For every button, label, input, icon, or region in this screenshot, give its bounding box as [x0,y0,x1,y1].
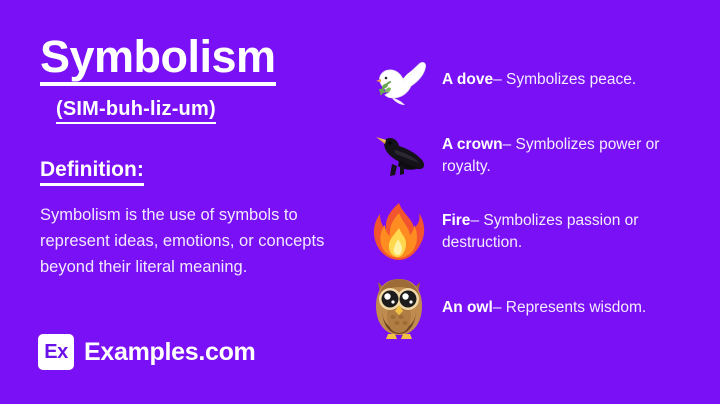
left-column: Symbolism (SIM-buh-liz-um) Definition: S… [40,34,370,280]
owl-icon [362,275,436,341]
pronunciation: (SIM-buh-liz-um) [56,98,216,124]
fire-icon [362,201,436,263]
list-item-description: Represents wisdom. [506,299,646,316]
brand-logo[interactable]: Ex Examples.com [38,334,256,370]
list-item: An owl– Represents wisdom. [362,270,712,346]
list-item-text: A dove– Symbolizes peace. [436,69,636,91]
list-item-separator: – [503,136,512,153]
list-item: Fire– Symbolizes passion or destruction. [362,194,712,270]
definition-body: Symbolism is the use of symbols to repre… [40,202,340,280]
list-item-separator: – [493,299,502,316]
list-item-description: Symbolizes peace. [506,71,636,88]
list-item-separator: – [493,71,502,88]
list-item: A crown– Symbolizes power or royalty. [362,118,712,194]
list-item-term: An owl [442,299,493,316]
list-item-separator: – [470,212,479,229]
list-item-term: Fire [442,212,470,229]
logo-mark-icon: Ex [38,334,74,370]
list-item-term: A dove [442,71,493,88]
list-item-text: An owl– Represents wisdom. [436,297,646,319]
list-item-text: A crown– Symbolizes power or royalty. [436,134,712,178]
dove-icon [362,51,436,109]
examples-list: A dove– Symbolizes peace. A crown– Symbo… [362,42,712,346]
crow-icon [362,126,436,186]
pronunciation-wrap: (SIM-buh-liz-um) [56,98,370,124]
page-title: Symbolism [40,34,276,86]
logo-wordmark: Examples.com [84,338,256,367]
list-item-term: A crown [442,136,503,153]
logo-mark-text: Ex [44,342,67,362]
definition-heading: Definition: [40,158,144,186]
list-item-text: Fire– Symbolizes passion or destruction. [436,210,712,254]
infographic-card: Symbolism (SIM-buh-liz-um) Definition: S… [0,0,720,404]
list-item: A dove– Symbolizes peace. [362,42,712,118]
